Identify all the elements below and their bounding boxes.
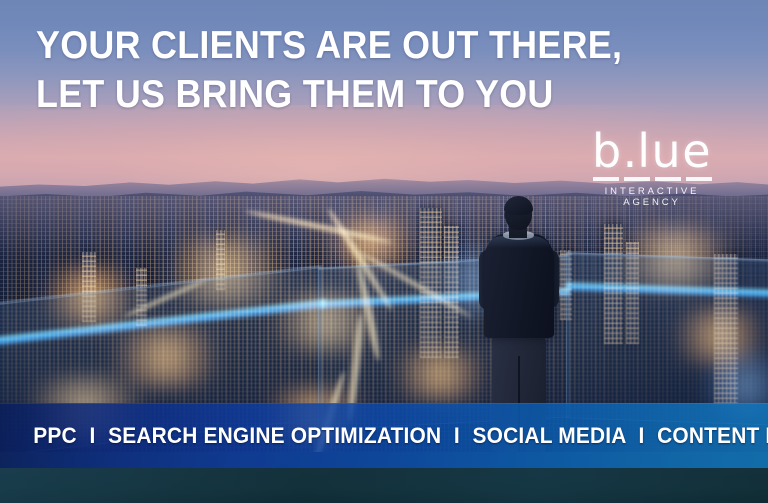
logo-bar-segment xyxy=(593,177,619,181)
logo-bar-segment xyxy=(655,177,681,181)
headline: YOUR CLIENTS ARE OUT THERE, LET US BRING… xyxy=(36,21,551,119)
service-item-seo[interactable]: SEARCH ENGINE OPTIMIZATION xyxy=(108,423,441,448)
logo-wordmark: b.lue xyxy=(578,128,726,174)
glass-railing-panel xyxy=(566,252,768,425)
logo-bar-segment xyxy=(624,177,650,181)
logo-tagline: INTERACTIVE AGENCY xyxy=(578,186,726,208)
blue-interactive-agency-logo[interactable]: b.lue INTERACTIVE AGENCY xyxy=(578,128,726,208)
service-separator: I xyxy=(632,423,651,449)
service-item-ppc[interactable]: PPC xyxy=(33,423,77,448)
logo-word-suffix: lue xyxy=(637,124,712,178)
logo-dot: . xyxy=(623,124,638,178)
headline-line-2: LET US BRING THEM TO YOU xyxy=(36,70,551,119)
service-item-social[interactable]: SOCIAL MEDIA xyxy=(473,423,626,448)
service-separator: I xyxy=(447,423,466,449)
figure-suit-torso xyxy=(484,234,554,338)
logo-bar-segment xyxy=(686,177,712,181)
marketing-banner-ad: YOUR CLIENTS ARE OUT THERE, LET US BRING… xyxy=(0,0,768,503)
service-item-content[interactable]: CONTENT MARKETING xyxy=(657,423,768,448)
services-banner: PPC I SEARCH ENGINE OPTIMIZATION I SOCIA… xyxy=(0,403,768,468)
services-list: PPC I SEARCH ENGINE OPTIMIZATION I SOCIA… xyxy=(0,423,768,449)
logo-word-prefix: b xyxy=(592,124,623,178)
headline-line-1: YOUR CLIENTS ARE OUT THERE, xyxy=(36,21,551,70)
service-separator: I xyxy=(83,423,102,449)
